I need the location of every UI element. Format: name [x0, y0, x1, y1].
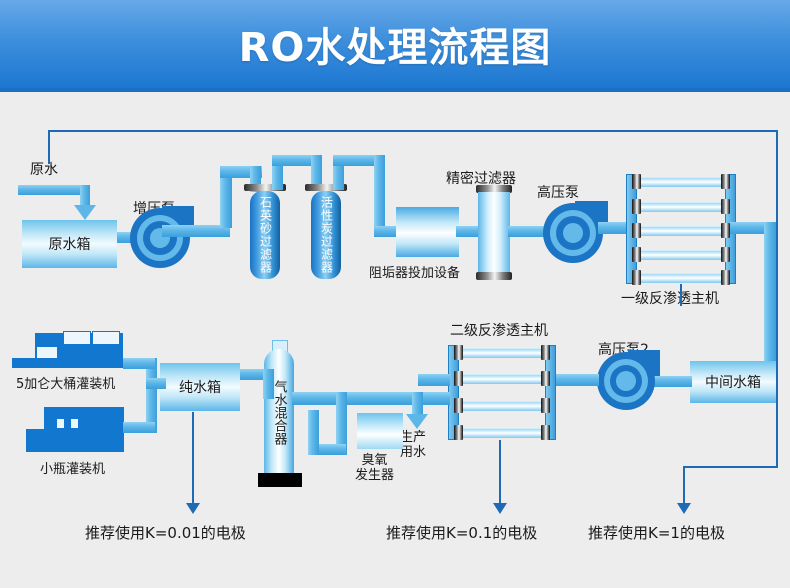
pipe-ozone-mixer-drop — [308, 410, 319, 455]
ro-stage-2-label: 二级反渗透主机 — [450, 320, 548, 340]
precision-filter-bottom-cap — [476, 272, 512, 280]
probe-line-ro-stage-2 — [499, 440, 501, 505]
return-line-right-down — [776, 130, 778, 468]
intermediate-tank: 中间水箱 — [690, 361, 776, 403]
ro-membrane — [634, 250, 728, 260]
ro-stage-2 — [448, 345, 556, 440]
gallon-filler-panel-top-2 — [92, 331, 120, 345]
pipe-doser-inlet-drop — [374, 155, 385, 232]
booster-pump — [130, 208, 190, 268]
ro-membrane — [634, 273, 728, 283]
pipe-filler-bottle-feed — [123, 422, 155, 433]
pure-water-tank-label: 纯水箱 — [179, 377, 221, 397]
ro-membrane-end-cap — [721, 199, 730, 214]
antiscalant-doser — [396, 207, 459, 257]
page-title: RO水处理流程图 — [0, 0, 790, 88]
pipe-product-branch-down — [412, 392, 423, 416]
ro-membrane — [456, 401, 548, 411]
ro-membrane — [634, 202, 728, 212]
header-underline — [0, 88, 790, 92]
ro-stage-1-label: 一级反渗透主机 — [621, 288, 719, 308]
pipe-pure-water-tank-feed — [146, 378, 166, 389]
ro-membrane-end-cap — [454, 371, 463, 386]
ozone-generator-label: 臭氧 发生器 — [355, 453, 394, 483]
ro-membrane-end-cap — [632, 270, 641, 285]
ro-membrane-end-cap — [541, 425, 550, 440]
bottle-filler-label: 小瓶灌装机 — [40, 458, 105, 477]
process-water-arrow — [406, 414, 428, 429]
note-k1: 推荐使用K=1的电极 — [588, 522, 725, 543]
pure-water-tank: 纯水箱 — [160, 363, 240, 411]
gas-water-mixer-base — [258, 473, 302, 487]
ro-membrane — [634, 177, 728, 187]
bottle-filler-base — [26, 429, 124, 452]
bottle-filler-nozzle-2 — [70, 418, 79, 429]
ro-membrane-end-cap — [454, 345, 463, 360]
pipe-precision-filter-outlet — [508, 226, 548, 237]
return-line-bottom-horizontal — [683, 466, 778, 468]
pipe-product-header — [298, 392, 450, 405]
pipe-mixer-to-product-header — [292, 392, 314, 405]
return-line-k1-down — [683, 466, 685, 505]
ro-membrane-end-cap — [721, 223, 730, 238]
ro-membrane-end-cap — [632, 174, 641, 189]
bottle-filler-nozzle-1 — [56, 418, 65, 429]
pipe-ro1-to-intermediate-tank — [764, 222, 776, 367]
high-pressure-pump-ring-4 — [563, 223, 583, 243]
ro-membrane-end-cap — [632, 199, 641, 214]
ro-membrane-end-cap — [721, 247, 730, 262]
pipe-filler-gallon-feed — [123, 358, 155, 369]
ro-membrane-end-cap — [632, 223, 641, 238]
ro-membrane-end-cap — [454, 425, 463, 440]
probe-line-pure-water-tank — [192, 412, 194, 505]
ro-membrane-end-cap — [454, 398, 463, 413]
ro-membrane — [456, 348, 548, 358]
gallon-filler-panel-top-1 — [63, 331, 91, 345]
high-pressure-pump-2 — [597, 352, 655, 410]
return-arrow-k1 — [677, 503, 691, 514]
raw-water-tank: 原水箱 — [22, 220, 117, 268]
pipe-ro2-permeate-out — [418, 374, 450, 386]
antiscalant-doser-label: 阻垢器投加设备 — [369, 262, 460, 281]
pipe-hpp2-to-ro-stage-2 — [553, 374, 599, 386]
high-pressure-pump-label: 高压泵 — [537, 182, 579, 202]
ozone-generator — [357, 413, 403, 449]
ro-membrane-end-cap — [632, 247, 641, 262]
pipe-inlet-vertical — [80, 185, 90, 207]
activated-carbon-filter-label: 活性炭过滤器 — [320, 196, 333, 274]
ro-stage-1 — [626, 174, 736, 284]
pipe-pure-water-tank-riser — [263, 369, 274, 399]
gallon-filler-label: 5加仑大桶灌装机 — [16, 373, 115, 392]
ro-membrane — [634, 226, 728, 236]
inlet-arrow — [74, 205, 96, 220]
gallon-filler-panel-left — [36, 346, 58, 359]
note-k001: 推荐使用K=0.01的电极 — [85, 522, 246, 543]
process-water-label: 生产 用水 — [400, 430, 426, 460]
ro-membrane-end-cap — [541, 371, 550, 386]
quartz-sand-filter: 石英砂过滤器 — [250, 191, 280, 279]
raw-water-tank-label: 原水箱 — [49, 234, 91, 254]
probe-arrow-k001 — [186, 503, 200, 514]
gallon-filler-base — [12, 358, 124, 368]
quartz-sand-filter-label: 石英砂过滤器 — [259, 196, 272, 274]
pipe-intermediate-tank-to-hpp2 — [650, 376, 692, 387]
ro-membrane-end-cap — [721, 174, 730, 189]
return-line-top-horizontal — [48, 130, 778, 132]
ro-membrane-end-cap — [541, 345, 550, 360]
ro-membrane-end-cap — [721, 270, 730, 285]
intermediate-tank-label: 中间水箱 — [705, 372, 761, 392]
activated-carbon-filter: 活性炭过滤器 — [311, 191, 341, 279]
high-pressure-pump-2-ring-4 — [616, 371, 636, 391]
ro-membrane-end-cap — [541, 398, 550, 413]
probe-line-ro-stage-1 — [680, 284, 682, 306]
inlet-label: 原水 — [30, 159, 58, 179]
probe-arrow-k01 — [493, 503, 507, 514]
precision-filter — [478, 192, 510, 274]
high-pressure-pump — [543, 203, 603, 263]
flow-diagram-page: RO水处理流程图 原水 原水箱 增压泵 石英砂过滤器 活性炭 — [0, 0, 790, 588]
ro-membrane — [456, 374, 548, 384]
ro-membrane — [456, 428, 548, 438]
note-k01: 推荐使用K=0.1的电极 — [386, 522, 537, 543]
